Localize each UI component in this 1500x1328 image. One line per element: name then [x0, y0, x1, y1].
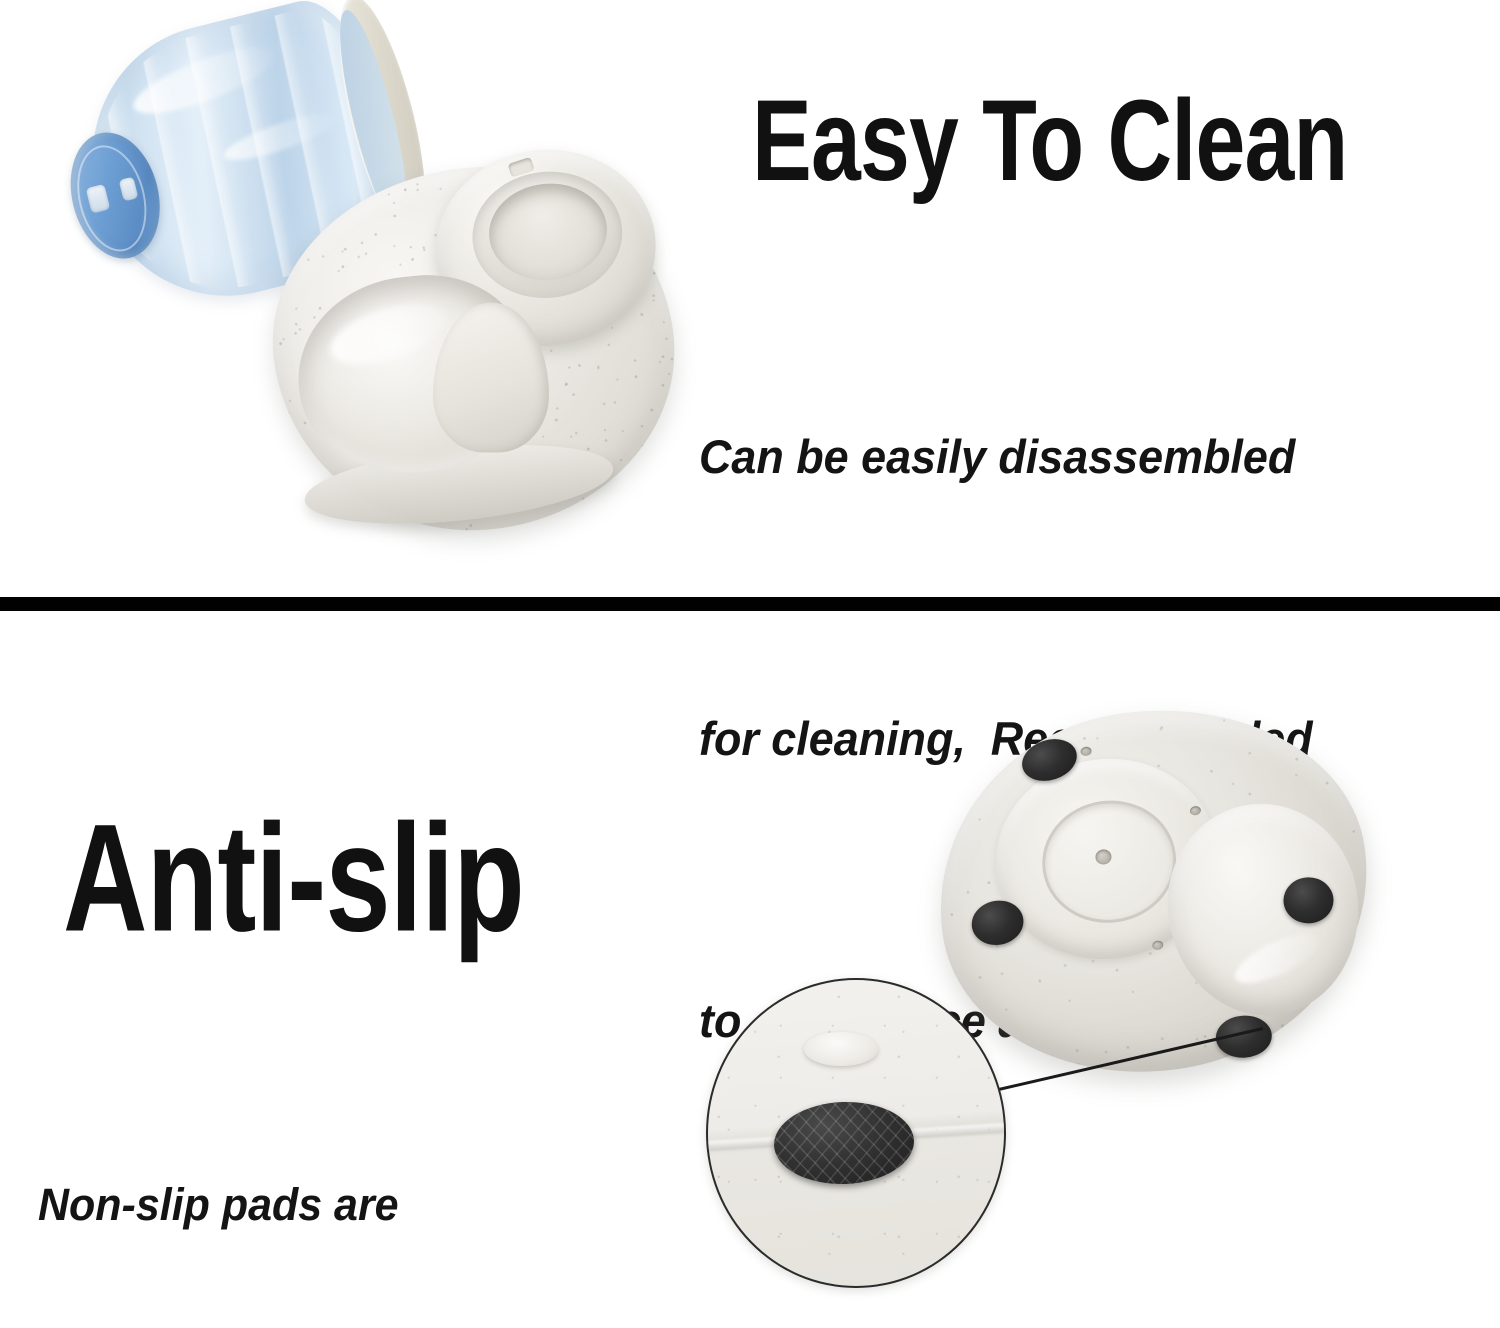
callout-pad-crosshatch-texture [773, 1100, 916, 1187]
callout-non-slip-pad [773, 1100, 916, 1187]
magnified-pad-callout [706, 978, 1006, 1288]
body-copy-anti-slip: Non-slip pads are effective in preventin… [38, 985, 537, 1328]
panel-easy-to-clean: Easy To Clean Can be easily disassembled… [0, 0, 1500, 598]
cap-ring [67, 138, 157, 259]
callout-molded-bump [804, 1032, 878, 1066]
heading-easy-to-clean: Easy To Clean [752, 83, 1347, 198]
bowl-base [250, 130, 700, 571]
heading-anti-slip: Anti-slip [63, 801, 524, 954]
water-bottle-and-bowl-photo [45, 5, 685, 550]
body-line: Can be easily disassembled [699, 410, 1313, 504]
body-line: Non-slip pads are [38, 1161, 537, 1249]
panel-divider [0, 597, 1500, 611]
infographic-page: Easy To Clean Can be easily disassembled… [0, 0, 1500, 1328]
